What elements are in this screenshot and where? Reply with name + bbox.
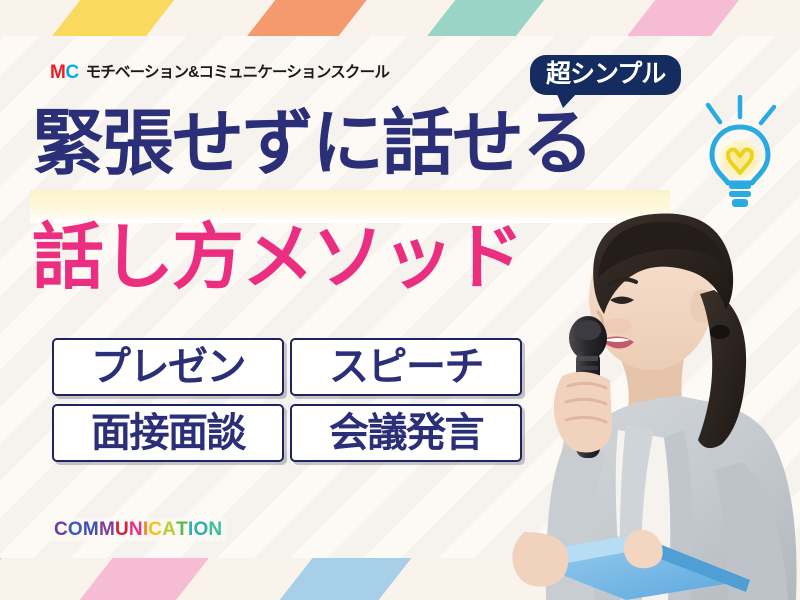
brand-logo: MC モチベーション&コミュニケーションスクール: [50, 63, 389, 82]
presenter-photo: [506, 180, 800, 600]
tag-label: プレゼン: [91, 347, 245, 387]
school-name: モチベーション&コミュニケーションスクール: [86, 65, 389, 81]
wordmark-letter-2: M: [83, 520, 99, 539]
badge-bubble-tail: [556, 92, 578, 108]
stripe-bottom-1: [0, 558, 26, 600]
tag-label: スピーチ: [329, 347, 483, 387]
tag-label: 面接面談: [91, 413, 245, 453]
tag-interview[interactable]: 面接面談: [52, 404, 284, 462]
top-stripe-band: [0, 0, 800, 36]
tag-speech[interactable]: スピーチ: [290, 338, 522, 396]
stripe-top-3: [201, 0, 387, 36]
wordmark-letter-8: A: [162, 520, 176, 539]
logo-mark: MC: [50, 63, 79, 82]
stripe-bottom-3: [246, 558, 437, 600]
topic-tag-grid: プレゼン スピーチ 面接面談 会議発言: [52, 338, 522, 462]
wordmark-letter-11: O: [193, 520, 208, 539]
simple-badge: 超シンプル: [530, 55, 681, 95]
badge-label: 超シンプル: [546, 61, 665, 87]
wordmark-letter-1: O: [68, 520, 83, 539]
wordmark-letter-4: U: [115, 520, 129, 539]
communication-wordmark: COMMUNICATION: [50, 518, 226, 541]
badge-bubble: 超シンプル: [530, 55, 681, 95]
headline-line-1: 緊張せずに話せる: [32, 108, 592, 180]
tag-meeting-speaking[interactable]: 会議発言: [290, 404, 522, 462]
tag-presentation[interactable]: プレゼン: [52, 338, 284, 396]
stripe-bottom-2: [46, 558, 235, 600]
logo-mark-m: M: [50, 62, 65, 83]
stripe-top-4: [381, 0, 565, 36]
wordmark-letter-5: N: [129, 520, 143, 539]
headline-line-2: 話し方メソッド: [32, 222, 522, 294]
tag-label: 会議発言: [329, 413, 483, 453]
wordmark-letter-9: T: [176, 520, 188, 539]
stripe-top-5: [581, 0, 762, 36]
wordmark-letter-3: M: [99, 520, 115, 539]
logo-mark-c: C: [65, 62, 78, 83]
wordmark-letter-0: C: [54, 520, 68, 539]
wordmark-letter-12: N: [208, 520, 222, 539]
stripe-top-2: [6, 0, 194, 36]
lightbulb-icon: [690, 95, 790, 218]
promo-banner: MC モチベーション&コミュニケーションスクール 超シンプル: [0, 0, 800, 600]
stripe-top-1: [0, 0, 22, 36]
wordmark-letter-7: C: [148, 520, 162, 539]
